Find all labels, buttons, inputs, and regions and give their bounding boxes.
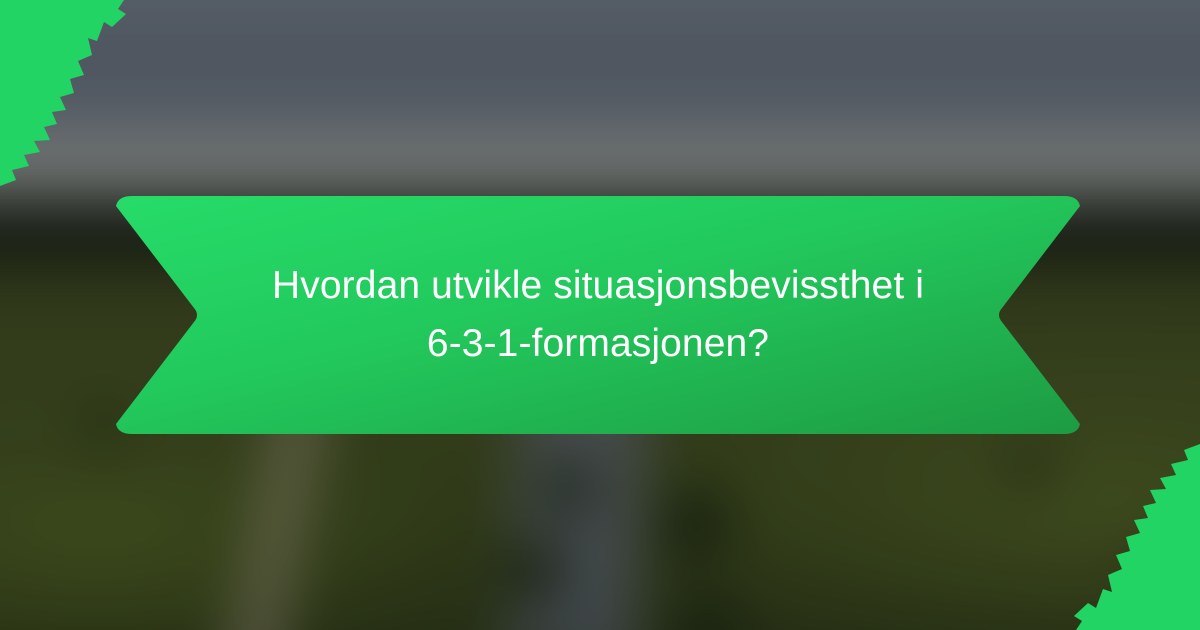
torn-edge-top-left [0,0,135,200]
title-line-2: 6-3-1-formasjonen? [427,318,769,370]
torn-edge-bottom-right-shape [1074,444,1200,630]
social-card: Hvordan utvikle situasjonsbevissthet i 6… [0,0,1200,630]
torn-edge-top-left-shape [0,0,126,186]
title-line-1: Hvordan utvikle situasjonsbevissthet i [272,260,924,312]
title-ribbon-banner: Hvordan utvikle situasjonsbevissthet i 6… [106,196,1090,434]
torn-edge-bottom-right [1065,430,1200,630]
ribbon-title-block: Hvordan utvikle situasjonsbevissthet i 6… [106,196,1090,434]
